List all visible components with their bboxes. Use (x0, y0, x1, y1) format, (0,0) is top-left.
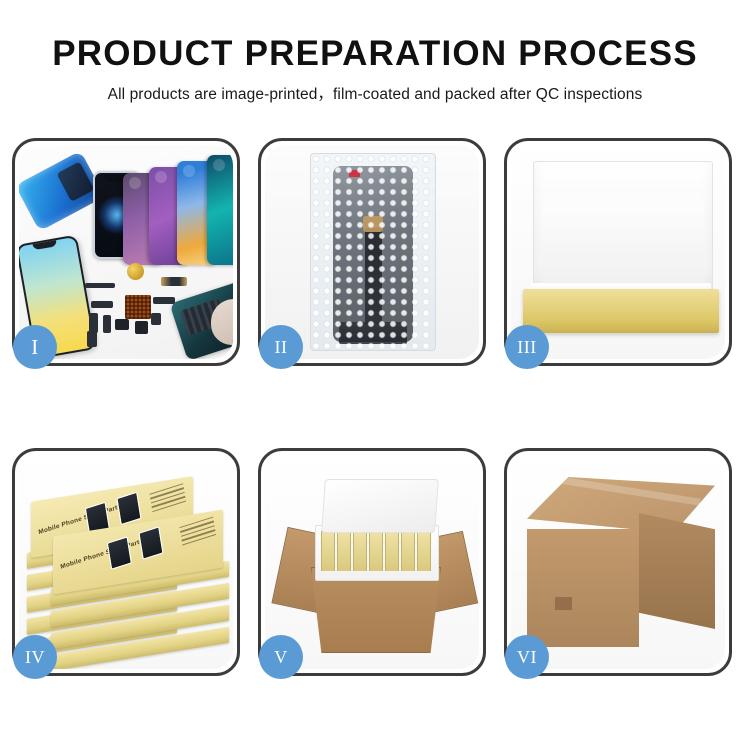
retail-box-icon (321, 531, 335, 571)
chip-part-icon (115, 319, 129, 330)
process-step-grid: I II III (12, 138, 738, 676)
flex-cable-icon (161, 277, 187, 286)
flex-cable-icon (365, 228, 382, 324)
open-carton-icon (277, 473, 473, 659)
sim-tray-icon (87, 331, 97, 347)
kraft-tray-icon (523, 289, 719, 333)
retail-box-icon (369, 531, 383, 571)
step-badge-2: II (259, 325, 303, 369)
spare-parts-group (85, 261, 233, 353)
box-spec-lines (179, 517, 216, 549)
speaker-part-icon (127, 263, 144, 280)
phone-thumb-icon (117, 492, 142, 526)
camera-part-icon (151, 313, 161, 325)
bag-seal-icon (339, 322, 407, 344)
retail-box-icon (385, 531, 399, 571)
connector-part-icon (153, 297, 175, 304)
tape-seam-icon (551, 475, 700, 505)
process-step-panel-3: III (504, 138, 732, 366)
step-4-photo: Mobile Phone Spare Parts Mobile Phon (19, 455, 233, 669)
carton-side-face (639, 513, 715, 629)
phone-lineup (123, 153, 233, 265)
step-badge-1: I (13, 325, 57, 369)
sealed-carton-icon (527, 477, 715, 653)
page-subtitle: All products are image-printed，film-coat… (0, 82, 750, 104)
red-label-icon (349, 170, 360, 177)
page-header: PRODUCT PREPARATION PROCESS All products… (0, 0, 750, 104)
carton-tab-icon (555, 597, 572, 610)
foam-lid-icon (321, 479, 439, 533)
step-5-photo (265, 455, 479, 669)
step-badge-5: V (259, 635, 303, 679)
box-stack: Mobile Phone Spare Parts Mobile Phon (27, 479, 233, 661)
box-artwork (107, 524, 172, 575)
process-step-panel-4: Mobile Phone Spare Parts Mobile Phon (12, 448, 240, 676)
bubble-wrap-bag-icon (310, 153, 436, 351)
retail-box-icon (417, 531, 431, 571)
flex-cable-icon (103, 315, 111, 333)
connector-part-icon (91, 301, 113, 308)
packed-retail-boxes (321, 531, 431, 571)
mesh-part-icon (125, 295, 151, 319)
process-step-panel-5: V (258, 448, 486, 676)
flex-cable-icon (85, 283, 115, 288)
retail-box-icon (401, 531, 415, 571)
phone-thumb-icon (107, 536, 132, 570)
process-step-panel-1: I (12, 138, 240, 366)
process-step-panel-6: VI (504, 448, 732, 676)
box-lid-icon (533, 161, 713, 293)
step-3-photo (511, 145, 725, 359)
step-badge-3: III (505, 325, 549, 369)
chip-part-icon (135, 321, 148, 334)
step-badge-4: IV (13, 635, 57, 679)
step-6-photo (511, 455, 725, 669)
retail-box-icon (337, 531, 351, 571)
retail-box-icon (353, 531, 367, 571)
phone-thumb-icon (139, 526, 164, 560)
screen-film-icon (19, 151, 105, 232)
step-badge-6: VI (505, 635, 549, 679)
process-step-panel-2: II (258, 138, 486, 366)
page-title: PRODUCT PREPARATION PROCESS (0, 36, 750, 73)
step-2-photo (265, 145, 479, 359)
carton-front-face (527, 529, 639, 647)
flex-cable-icon (89, 313, 98, 333)
phone-icon (207, 155, 233, 265)
step-1-photo (19, 145, 233, 359)
box-spec-lines (149, 483, 186, 515)
